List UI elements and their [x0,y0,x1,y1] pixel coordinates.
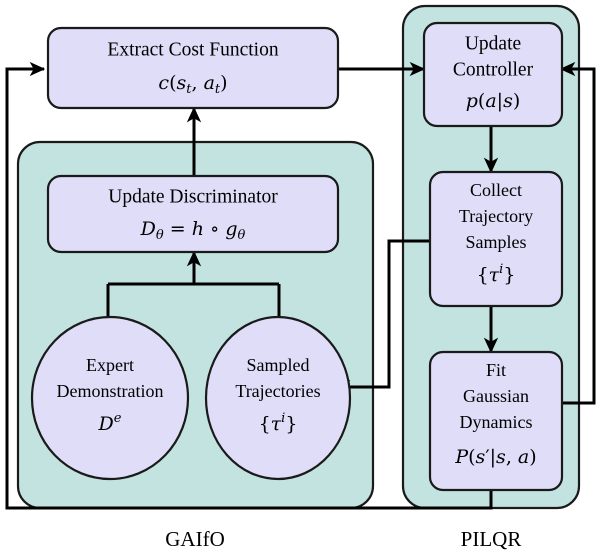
node-fit-gaussian-dynamics[interactable]: Fit Gaussian Dynamics P(s′|s, a) [430,352,562,490]
node-update-discriminator-math: Dθ = h ∘ gθ [140,218,246,243]
node-update-discriminator[interactable]: Update Discriminator Dθ = h ∘ gθ [48,176,338,252]
node-extract-cost-function-title: Extract Cost Function [107,39,278,60]
node-expert-demonstration-title-line1: Expert [86,355,134,375]
figure-canvas: Extract Cost Function c(st, at) Update C… [0,0,600,558]
node-update-discriminator-title: Update Discriminator [108,186,278,207]
node-fit-gaussian-dynamics-title-line2: Gaussian [463,386,529,406]
group-caption-gaifo: GAIfO [165,527,224,551]
node-sampled-trajectories[interactable]: Sampled Trajectories {τi} [206,317,350,479]
node-fit-gaussian-dynamics-title-line3: Dynamics [460,412,533,432]
node-extract-cost-function[interactable]: Extract Cost Function c(st, at) [48,28,338,108]
node-update-controller-math: p(a|s) [466,90,521,112]
node-sampled-trajectories-title-line2: Trajectories [235,381,320,401]
node-collect-trajectory-samples-title-line1: Collect [470,180,522,200]
node-collect-trajectory-samples[interactable]: Collect Trajectory Samples {τi} [430,172,562,306]
node-update-controller-title-line1: Update [465,33,521,54]
node-sampled-trajectories-title-line1: Sampled [247,355,310,375]
node-sampled-trajectories-math: {τi} [259,411,298,436]
node-expert-demonstration-title-line2: Demonstration [57,381,164,401]
node-update-controller[interactable]: Update Controller p(a|s) [424,23,562,126]
node-collect-trajectory-samples-title-line2: Trajectory [459,206,533,226]
node-update-controller-title-line2: Controller [453,59,534,80]
node-fit-gaussian-dynamics-math: P(s′|s, a) [454,446,536,468]
flow-diagram: Extract Cost Function c(st, at) Update C… [0,0,600,558]
node-collect-trajectory-samples-math: {τi} [477,262,516,287]
group-caption-pilqr: PILQR [461,527,522,551]
node-fit-gaussian-dynamics-title-line1: Fit [486,360,506,380]
node-expert-demonstration[interactable]: Expert Demonstration De [32,317,188,479]
node-collect-trajectory-samples-title-line3: Samples [466,232,527,252]
